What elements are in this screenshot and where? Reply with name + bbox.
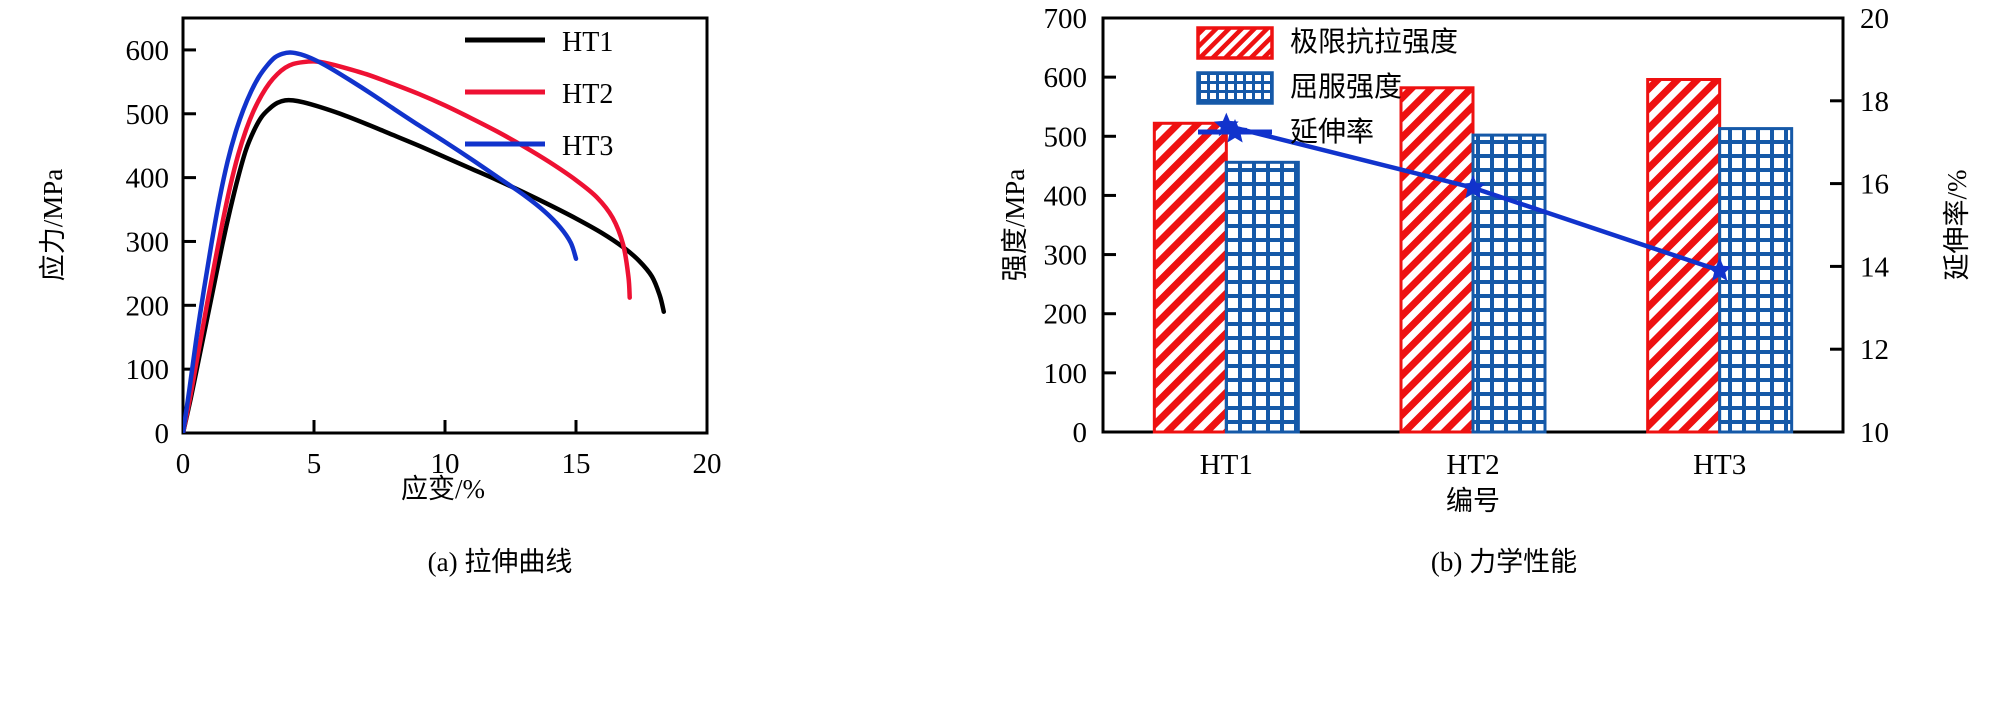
y-axis-ticks-a: 0100200300400500600	[126, 35, 197, 450]
legend-swatch-极限抗拉强度	[1198, 28, 1272, 58]
y-tick-right-label-b: 16	[1860, 169, 1889, 201]
x-axis-ticks-b: HT1HT2HT3	[1200, 449, 1747, 481]
bar-ultimate-HT1	[1154, 123, 1226, 432]
x-axis-label-b: 编号	[1446, 486, 1500, 516]
legend-a: HT1HT2HT3	[465, 27, 613, 162]
y-tick-right-label-b: 12	[1860, 334, 1889, 366]
panel-a-caption: (a) 拉伸曲线	[0, 540, 1000, 579]
legend-label-HT3: HT3	[562, 131, 613, 162]
y-tick-label-a: 500	[126, 99, 170, 131]
x-axis-ticks-a: 05101520	[176, 420, 722, 480]
x-tick-label-a: 20	[693, 448, 722, 480]
plot-frame-a	[183, 18, 707, 433]
x-tick-label-a: 0	[176, 448, 191, 480]
y-tick-label-a: 200	[126, 290, 170, 322]
y-tick-left-label-b: 0	[1073, 417, 1088, 449]
x-tick-label-a: 15	[562, 448, 591, 480]
y-tick-label-a: 0	[155, 418, 170, 450]
bar-yield-HT3	[1720, 129, 1792, 432]
y-tick-left-label-b: 100	[1044, 358, 1088, 390]
y-axis-right-label-b: 延伸率/%	[1942, 170, 1972, 281]
y-tick-left-label-b: 200	[1044, 299, 1088, 331]
y-tick-label-a: 400	[126, 163, 170, 195]
y-tick-right-label-b: 20	[1860, 3, 1889, 35]
y-tick-right-label-b: 10	[1860, 417, 1889, 449]
panel-b-caption: (b) 力学性能	[1000, 540, 2008, 579]
y-tick-left-label-b: 600	[1044, 62, 1088, 94]
panel-a-tensile-curves: 0100200300400500600 05101520 HT1HT2HT3 应…	[0, 0, 1000, 707]
figure-root: 0100200300400500600 05101520 HT1HT2HT3 应…	[0, 0, 2008, 707]
x-tick-label-b: HT3	[1693, 449, 1746, 481]
bar-yield-HT2	[1473, 135, 1545, 432]
y-tick-left-label-b: 400	[1044, 180, 1088, 212]
y-axis-left-label-b: 强度/MPa	[1000, 169, 1030, 282]
y-tick-left-label-b: 300	[1044, 240, 1088, 272]
x-tick-label-b: HT2	[1446, 449, 1499, 481]
y-axis-right-ticks-b: 101214161820	[1830, 3, 1890, 449]
legend-swatch-屈服强度	[1198, 73, 1272, 103]
y-tick-left-label-b: 700	[1044, 3, 1088, 35]
bar-ultimate-HT2	[1401, 88, 1473, 432]
x-tick-label-b: HT1	[1200, 449, 1253, 481]
y-tick-right-label-b: 18	[1860, 86, 1889, 118]
y-tick-label-a: 600	[126, 35, 170, 67]
y-tick-label-a: 300	[126, 226, 170, 258]
y-axis-left-ticks-b: 0100200300400500600700	[1044, 3, 1117, 449]
x-axis-label-a: 应变/%	[401, 474, 485, 504]
bar-yield-HT1	[1226, 162, 1298, 432]
y-tick-left-label-b: 500	[1044, 121, 1088, 153]
y-axis-label-a: 应力/MPa	[38, 169, 68, 282]
legend-label-屈服强度: 屈服强度	[1290, 71, 1402, 103]
y-tick-right-label-b: 14	[1860, 251, 1890, 283]
bar-ultimate-HT3	[1648, 80, 1720, 432]
legend-label-HT2: HT2	[562, 79, 613, 110]
curve-HT3	[183, 52, 576, 433]
x-tick-label-a: 5	[307, 448, 322, 480]
panel-b-mechanical-properties: 0100200300400500600700 101214161820 HT1H…	[1000, 0, 2008, 707]
y-tick-label-a: 100	[126, 354, 170, 386]
legend-label-HT1: HT1	[562, 27, 613, 58]
legend-label-延伸率: 延伸率	[1290, 116, 1374, 148]
legend-label-极限抗拉强度: 极限抗拉强度	[1290, 26, 1458, 58]
